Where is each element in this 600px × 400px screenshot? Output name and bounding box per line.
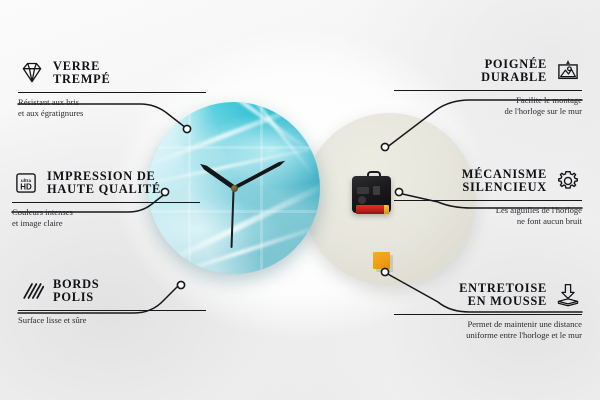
feature-description: Résistant aux bris et aux égratignures <box>18 97 206 118</box>
feature-entretoise-mousse: ENTRETOISE EN MOUSSE Permet de maintenir… <box>394 280 582 341</box>
feature-divider <box>394 200 582 201</box>
feature-title: VERRE TREMPÉ <box>53 60 111 87</box>
feature-divider <box>18 92 206 93</box>
feature-description: Permet de maintenir une distance uniform… <box>394 319 582 340</box>
feature-impression-hd: ultra HD IMPRESSION DE HAUTE QUALITÉ Cou… <box>12 168 200 229</box>
feature-title: POIGNÉE DURABLE <box>481 58 547 85</box>
feature-title: MÉCANISME SILENCIEUX <box>462 168 547 195</box>
hand-center-cap <box>231 185 238 192</box>
feature-divider <box>18 310 206 311</box>
feature-description: Les aiguilles de l'horloge ne font aucun… <box>394 205 582 226</box>
diamond-icon <box>18 60 46 86</box>
feature-bords-polis: BORDS POLIS Surface lisse et sûre <box>18 276 206 326</box>
mechanism-detail <box>358 196 366 204</box>
svg-text:HD: HD <box>20 182 32 191</box>
feature-title: IMPRESSION DE HAUTE QUALITÉ <box>47 170 161 197</box>
quartz-mechanism <box>352 171 391 213</box>
feature-title: ENTRETOISE EN MOUSSE <box>459 282 547 309</box>
polished-edges-icon <box>18 278 46 304</box>
feature-poignee-durable: POIGNÉE DURABLE Facilite le montage de l… <box>394 56 582 117</box>
feature-description: Surface lisse et sûre <box>18 315 206 326</box>
feature-mecanisme-silencieux: MÉCANISME SILENCIEUX Les aiguilles de l'… <box>394 166 582 227</box>
feature-description: Couleurs intenses et image claire <box>12 207 200 228</box>
feature-header: ultra HD IMPRESSION DE HAUTE QUALITÉ <box>12 168 200 198</box>
gear-icon <box>554 168 582 194</box>
mechanism-housing <box>352 176 391 213</box>
feature-divider <box>394 314 582 315</box>
battery <box>356 205 389 214</box>
feature-divider <box>12 202 200 203</box>
wall-hanger-picture-icon <box>554 58 582 84</box>
feature-title: BORDS POLIS <box>53 278 99 305</box>
battery-positive-tip <box>384 205 389 214</box>
feature-header: ENTRETOISE EN MOUSSE <box>394 280 582 310</box>
feature-verre-trempe: VERRE TREMPÉ Résistant aux bris et aux é… <box>18 58 206 119</box>
ultra-hd-icon: ultra HD <box>12 170 40 196</box>
mechanism-detail <box>373 186 380 195</box>
feature-divider <box>394 90 582 91</box>
feature-description: Facilite le montage de l'horloge sur le … <box>394 95 582 116</box>
foam-spacer-part <box>373 252 390 269</box>
feature-header: POIGNÉE DURABLE <box>394 56 582 86</box>
infographic-canvas: VERRE TREMPÉ Résistant aux bris et aux é… <box>0 0 600 400</box>
mechanism-detail <box>357 187 369 194</box>
feature-header: VERRE TREMPÉ <box>18 58 206 88</box>
foam-spacer-face <box>373 252 390 269</box>
feature-header: MÉCANISME SILENCIEUX <box>394 166 582 196</box>
foam-spacer-arrow-icon <box>554 282 582 308</box>
face-grid-line <box>260 102 263 274</box>
feature-header: BORDS POLIS <box>18 276 206 306</box>
